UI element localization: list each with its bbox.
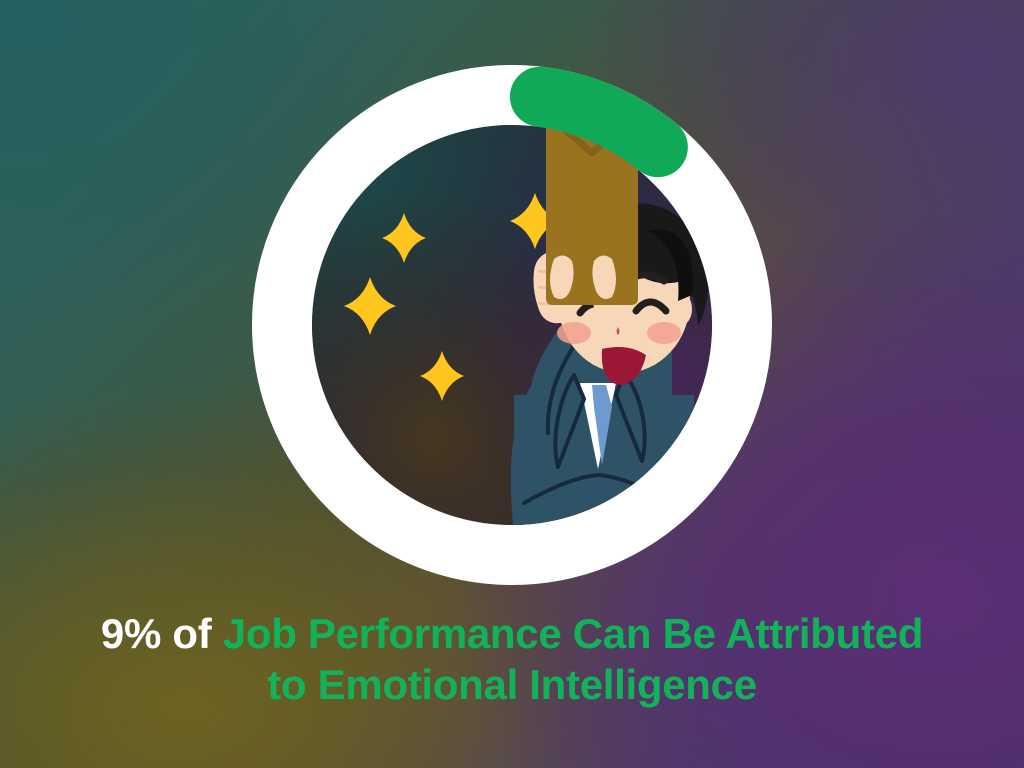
headline-percent: 9% of [101,610,212,657]
progress-ring-container [252,65,772,585]
blush-left [557,322,591,344]
blush-right [647,322,681,344]
infographic-card: 9% of Job Performance Can Be Attributed … [0,0,1024,768]
headline-line-1-rest: Job Performance Can Be Attributed [223,610,923,657]
headline-line-1: 9% of Job Performance Can Be Attributed [0,608,1024,659]
headline-line-2: to Emotional Intelligence [0,659,1024,710]
stat-headline: 9% of Job Performance Can Be Attributed … [0,608,1024,710]
